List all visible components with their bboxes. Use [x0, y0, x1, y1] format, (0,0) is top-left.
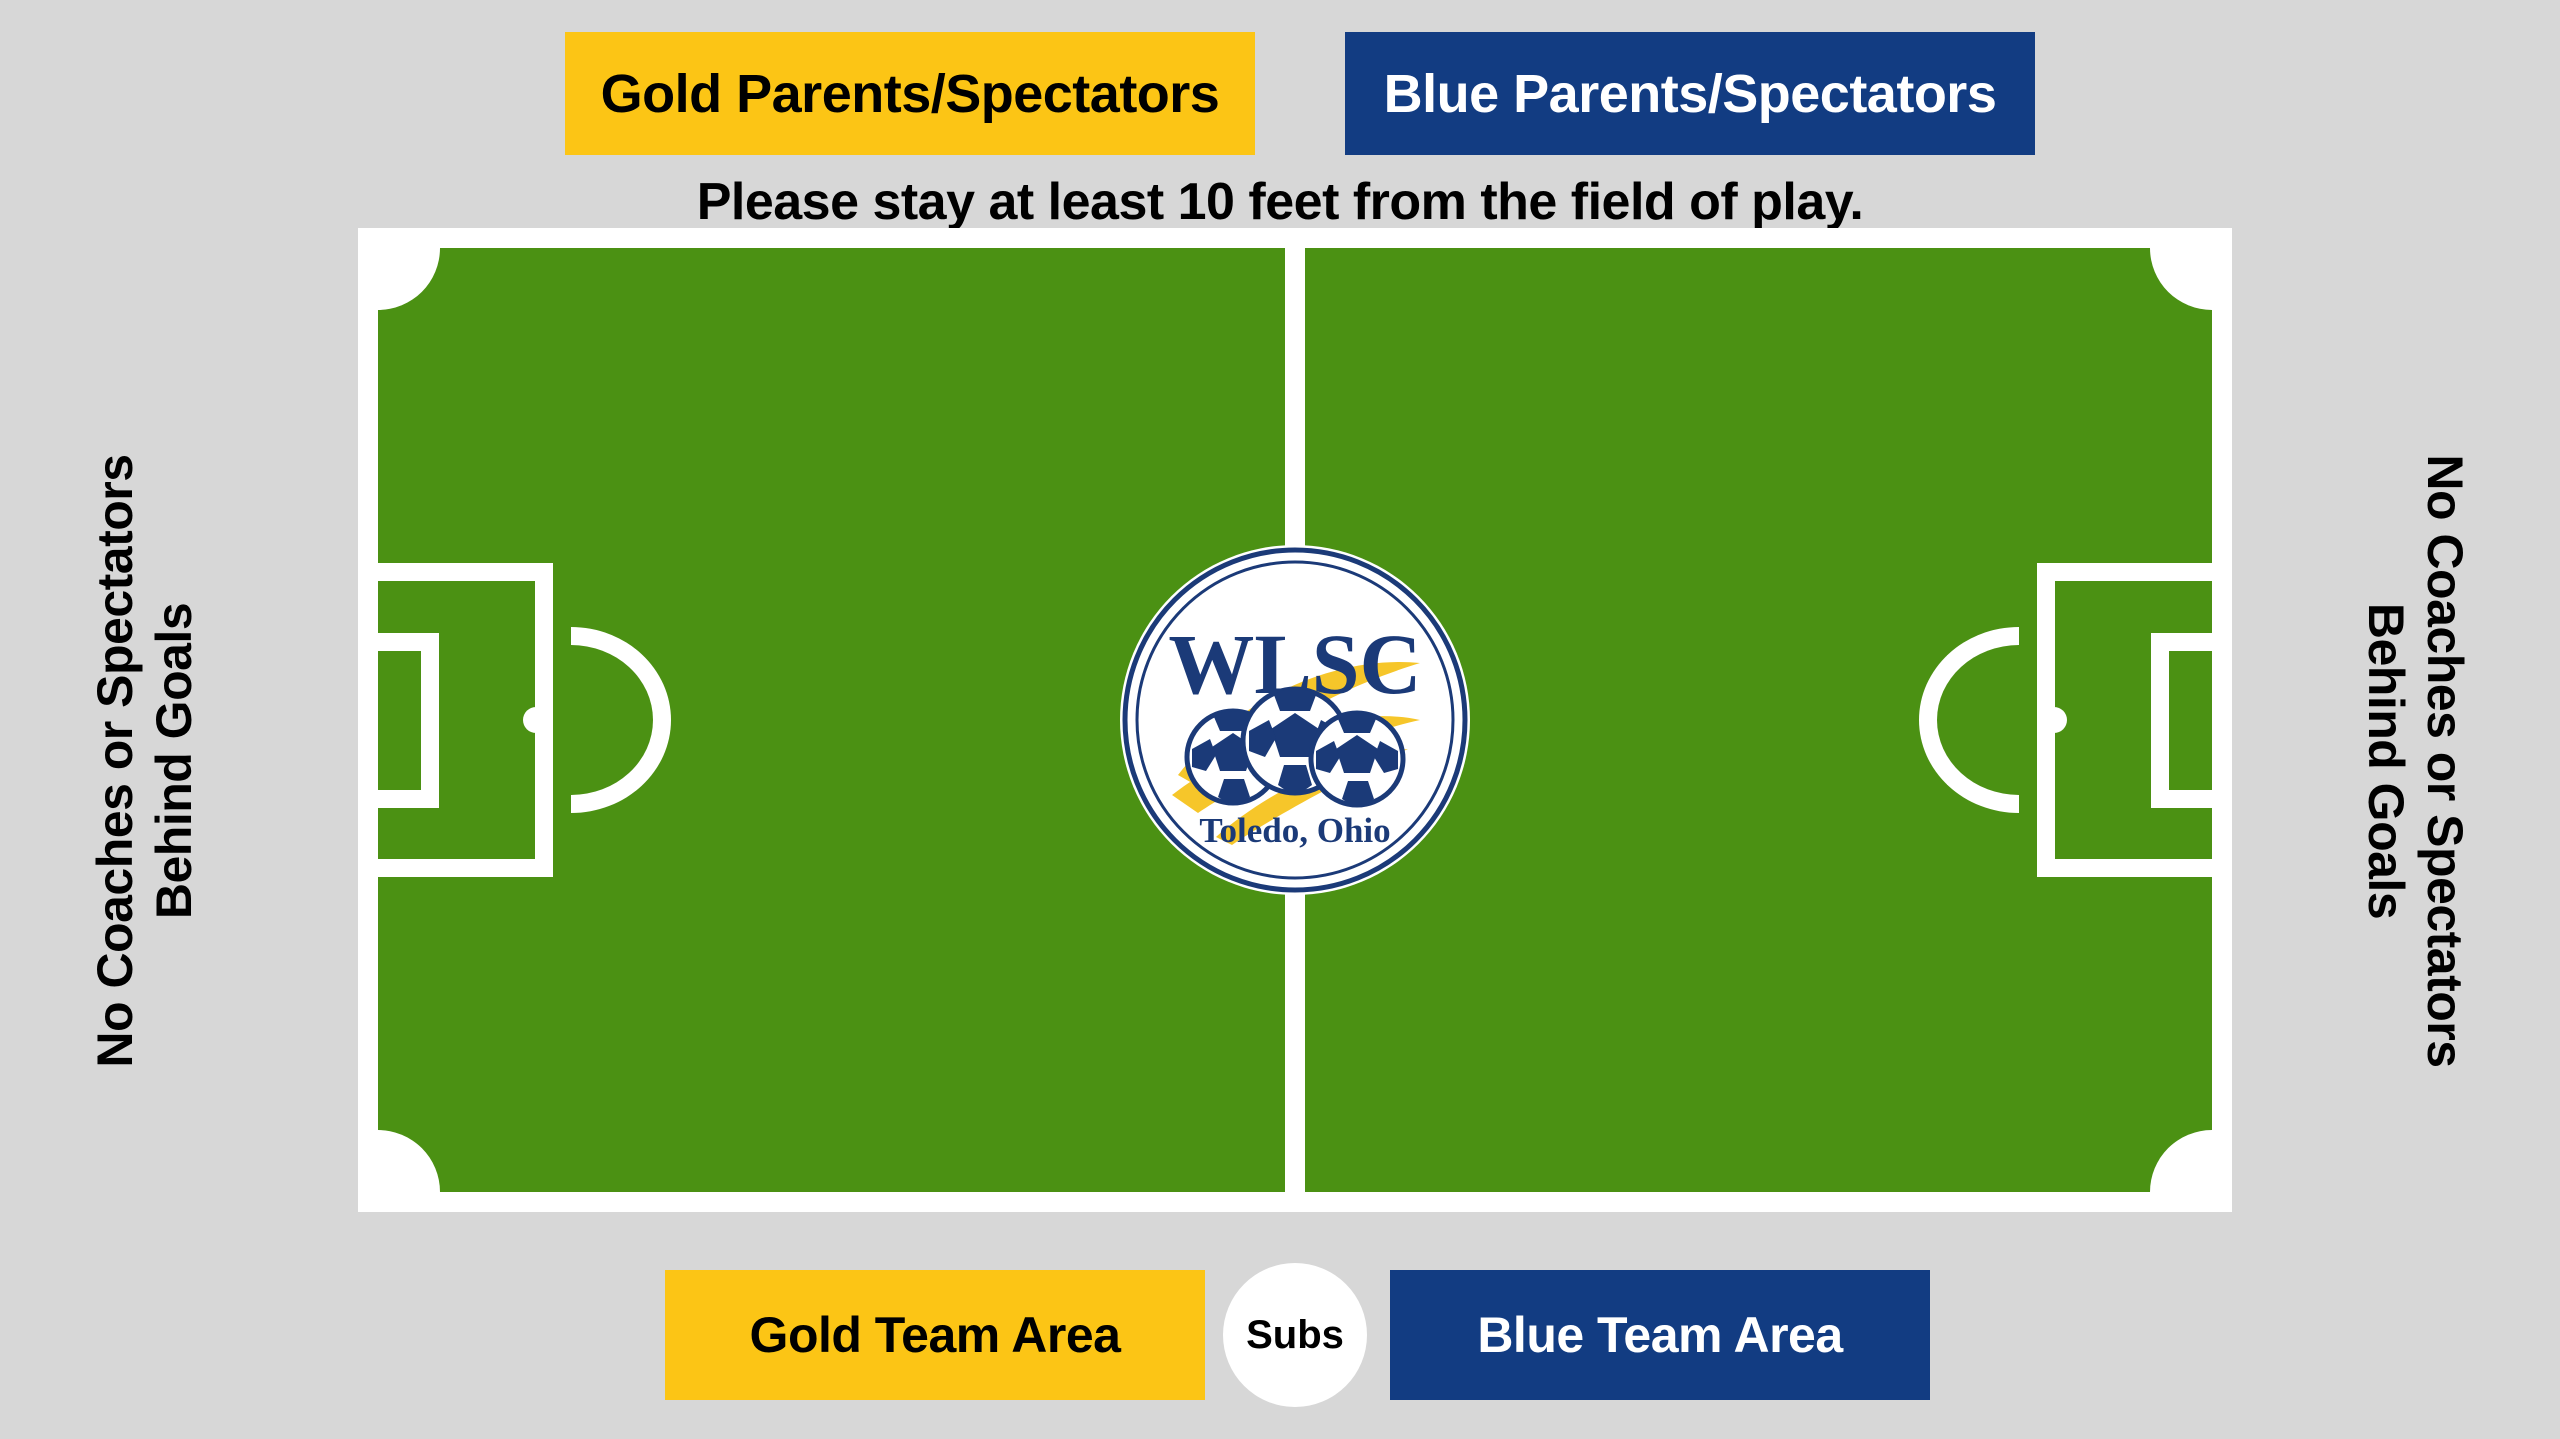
goal-area-left [378, 633, 439, 808]
blue-team-area: Blue Team Area [1390, 1270, 1930, 1400]
right-goal-notice: No Coaches or Spectators Behind Goals [2356, 311, 2474, 1211]
soccer-field: WLSC [358, 228, 2232, 1212]
gold-team-area-label: Gold Team Area [750, 1306, 1121, 1364]
penalty-spot-left [523, 707, 549, 733]
corner-arc-top-right [2150, 248, 2212, 310]
wlsc-club-logo: WLSC [1120, 545, 1470, 895]
corner-arc-bottom-left [378, 1130, 440, 1192]
penalty-arc-right [1919, 627, 2019, 813]
goal-area-right [2151, 633, 2212, 808]
left-goal-notice: No Coaches or Spectators Behind Goals [86, 311, 204, 1211]
subs-area-label: Subs [1246, 1313, 1344, 1358]
field-diagram-canvas: Gold Parents/Spectators Blue Parents/Spe… [0, 0, 2560, 1439]
gold-parents-banner-label: Gold Parents/Spectators [601, 63, 1220, 125]
gold-parents-banner: Gold Parents/Spectators [565, 32, 1255, 155]
right-goal-notice-line1: No Coaches or Spectators [2415, 311, 2474, 1211]
subs-area: Subs [1223, 1263, 1367, 1407]
blue-parents-banner: Blue Parents/Spectators [1345, 32, 2035, 155]
blue-parents-banner-label: Blue Parents/Spectators [1384, 63, 1997, 125]
left-goal-notice-line1: No Coaches or Spectators [86, 311, 145, 1211]
club-location-text: Toledo, Ohio [1199, 811, 1390, 850]
left-goal-notice-line2: Behind Goals [145, 311, 204, 1211]
right-goal-notice-line2: Behind Goals [2356, 311, 2415, 1211]
penalty-spot-right [2041, 707, 2067, 733]
penalty-arc-left [571, 627, 671, 813]
gold-team-area: Gold Team Area [665, 1270, 1205, 1400]
field-distance-notice: Please stay at least 10 feet from the fi… [0, 172, 2560, 232]
field-surface: WLSC [378, 248, 2212, 1192]
blue-team-area-label: Blue Team Area [1477, 1306, 1842, 1364]
corner-arc-top-left [378, 248, 440, 310]
corner-arc-bottom-right [2150, 1130, 2212, 1192]
